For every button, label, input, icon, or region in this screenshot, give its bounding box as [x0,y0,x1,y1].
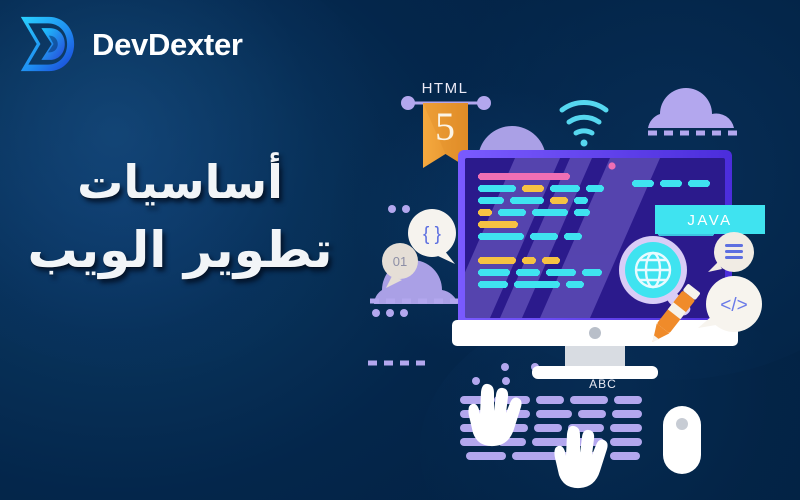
brand-logo[interactable]: DevDexter [18,14,243,74]
binary-glyph: 01 [393,254,407,269]
poster-canvas: DevDexter أساسيات تطوير الويب [0,0,800,500]
keyboard-abc-label: ABC [589,377,617,391]
java-tag-badge: JAVA [655,205,765,234]
mouse-icon [663,406,701,474]
brand-name: DevDexter [92,29,243,60]
monitor-icon [445,150,738,379]
headline-line-1: أساسيات [0,155,360,209]
java-label: JAVA [687,212,732,229]
dd-monogram-icon [18,14,76,74]
curly-braces-glyph: { } [423,224,441,245]
html5-number: 5 [435,104,455,149]
headline-line-2: تطوير الويب [0,221,360,280]
page-title: أساسيات تطوير الويب [0,155,360,280]
html5-label: HTML [422,80,469,97]
wifi-icon [562,102,606,146]
code-tag-glyph: </> [720,295,747,316]
cloud-icon-right [648,88,734,128]
web-development-workstation-illustration: HTML 5 [360,70,800,500]
